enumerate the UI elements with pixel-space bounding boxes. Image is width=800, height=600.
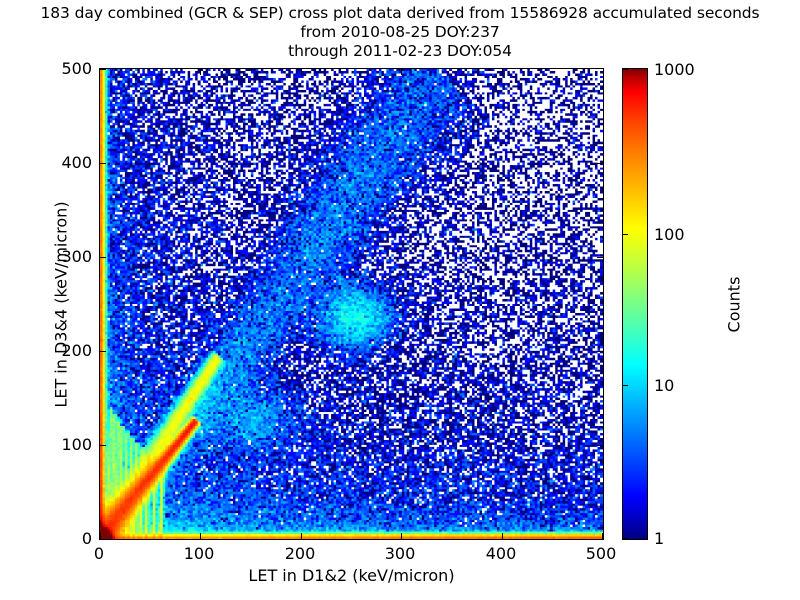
x-tick-label-400: 400 [461, 544, 541, 563]
y-tick-right-200 [597, 351, 603, 352]
y-axis-label: LET in D3&4 (keV/micron) [52, 125, 71, 485]
x-tick-top-400 [502, 69, 503, 75]
colorbar[interactable] [622, 68, 648, 540]
x-tick-300 [401, 533, 402, 539]
x-tick-top-300 [401, 69, 402, 75]
y-tick-100 [100, 445, 106, 446]
colorbar-label: Counts [725, 195, 744, 415]
y-tick-400 [100, 163, 106, 164]
colorbar-tick-label-10: 10 [654, 376, 674, 395]
y-tick-right-100 [597, 445, 603, 446]
x-tick-label-100: 100 [159, 544, 239, 563]
x-tick-200 [301, 533, 302, 539]
colorbar-tick-1000 [622, 69, 628, 70]
y-tick-label-500: 500 [32, 59, 92, 78]
chart-title: 183 day combined (GCR & SEP) cross plot … [0, 4, 800, 61]
x-tick-top-200 [301, 69, 302, 75]
x-tick-label-300: 300 [360, 544, 440, 563]
colorbar-tick-label-100: 100 [654, 225, 685, 244]
colorbar-tick-label-1: 1 [654, 529, 664, 548]
title-line-3: through 2011-02-23 DOY:054 [0, 42, 800, 61]
plot-area[interactable] [99, 68, 604, 540]
x-tick-label-500: 500 [561, 544, 641, 563]
colorbar-tick-1 [622, 538, 628, 539]
x-tick-500 [602, 533, 603, 539]
y-tick-500 [100, 69, 106, 70]
x-tick-top-100 [200, 69, 201, 75]
x-tick-label-200: 200 [260, 544, 340, 563]
heatmap-canvas [100, 69, 603, 539]
title-line-2: from 2010-08-25 DOY:237 [0, 23, 800, 42]
colorbar-tick-100 [622, 234, 628, 235]
y-tick-right-300 [597, 257, 603, 258]
figure-canvas: 183 day combined (GCR & SEP) cross plot … [0, 0, 800, 600]
y-tick-200 [100, 351, 106, 352]
colorbar-tick-label-1000: 1000 [654, 60, 695, 79]
x-axis-label: LET in D1&2 (keV/micron) [99, 566, 604, 585]
y-tick-0 [100, 539, 106, 540]
y-tick-right-400 [597, 163, 603, 164]
y-tick-label-0: 0 [32, 529, 92, 548]
x-tick-400 [502, 533, 503, 539]
y-tick-300 [100, 257, 106, 258]
x-tick-100 [200, 533, 201, 539]
colorbar-tick-10 [622, 385, 628, 386]
title-line-1: 183 day combined (GCR & SEP) cross plot … [0, 4, 800, 23]
